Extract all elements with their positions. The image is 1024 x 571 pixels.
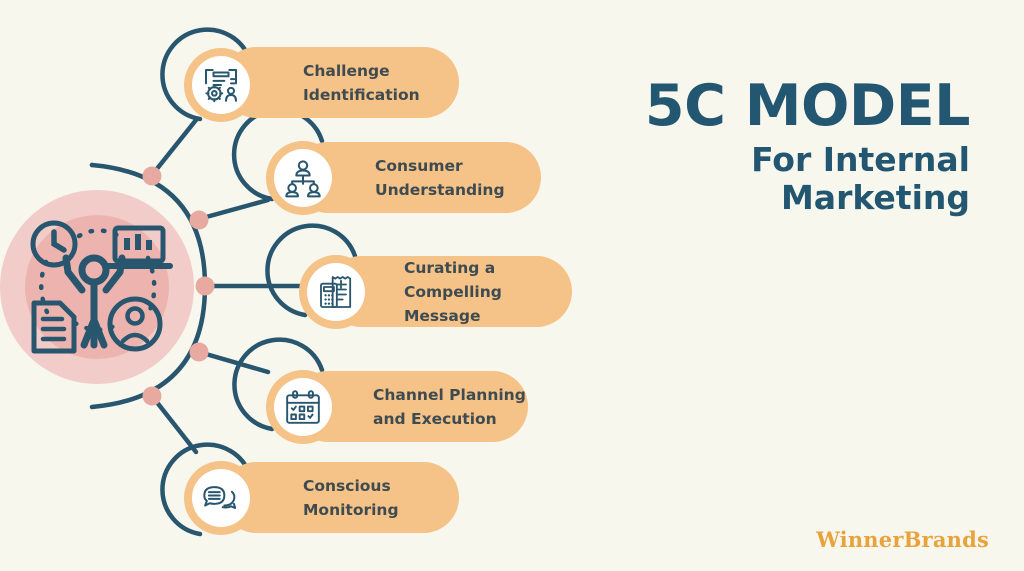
page-subtitle-line1: For Internal bbox=[618, 141, 970, 179]
item-badge-5[interactable] bbox=[184, 461, 258, 535]
item-badge-3[interactable] bbox=[299, 255, 373, 329]
calculator-invoice-icon bbox=[316, 272, 356, 312]
page-subtitle-line2: Marketing bbox=[618, 179, 970, 217]
item-label-4: Channel Planning and Execution bbox=[373, 383, 526, 431]
speech-bubbles-icon bbox=[201, 478, 241, 518]
page-subtitle: For Internal Marketing bbox=[618, 141, 970, 217]
item-icon-wrap-2 bbox=[274, 149, 332, 207]
item-label-5: Conscious Monitoring bbox=[303, 474, 399, 522]
item-label-1: Challenge Identification bbox=[303, 59, 420, 107]
item-icon-wrap-4 bbox=[274, 378, 332, 436]
item-badge-2[interactable] bbox=[266, 141, 340, 215]
item-badge-4[interactable] bbox=[266, 370, 340, 444]
item-icon-wrap-1 bbox=[192, 56, 250, 114]
people-hierarchy-icon bbox=[283, 158, 323, 198]
presentation-board-gear-person-icon bbox=[201, 65, 241, 105]
title-block: 5C MODEL For Internal Marketing bbox=[618, 78, 970, 217]
item-label-3: Curating a Compelling Message bbox=[404, 256, 572, 328]
item-icon-wrap-3 bbox=[307, 263, 365, 321]
item-label-2: Consumer Understanding bbox=[375, 154, 505, 202]
page-title: 5C MODEL bbox=[618, 78, 970, 134]
winnerbrands-logo: WinnerBrands bbox=[816, 527, 989, 552]
calendar-check-icon bbox=[283, 387, 323, 427]
item-badge-1[interactable] bbox=[184, 48, 258, 122]
item-icon-wrap-5 bbox=[192, 469, 250, 527]
infographic-canvas: 5C MODEL For Internal Marketing WinnerBr… bbox=[0, 0, 1024, 571]
